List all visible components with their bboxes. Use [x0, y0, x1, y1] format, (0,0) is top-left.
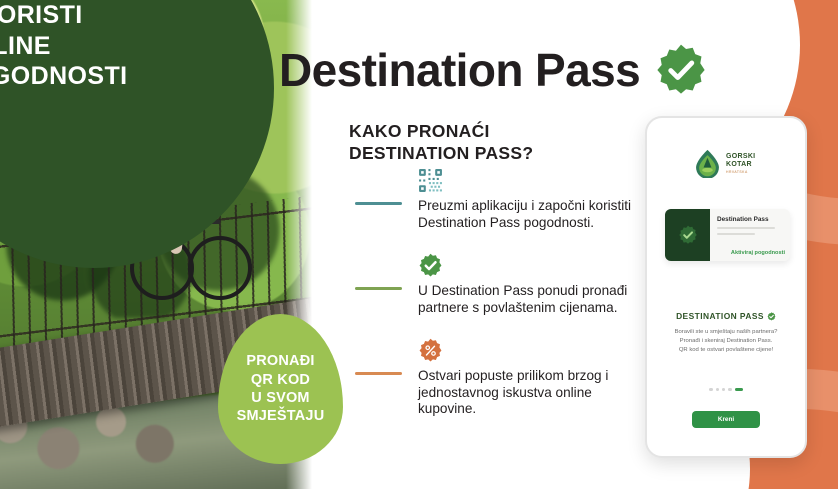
activate-benefits-link[interactable]: Aktiviraj pogodnosti [731, 250, 785, 256]
page-title-text: Destination Pass [279, 43, 640, 97]
brand-name-line-1: GORSKI [726, 153, 755, 161]
app-brand: GORSKI KOTAR HRVATSKA [694, 149, 755, 178]
phone-body-line-1: Boravili ste u smještaju naših partnera? [662, 328, 790, 337]
step-rule [355, 202, 402, 205]
section-subtitle-line-1: KAKO PRONAĆI [349, 120, 533, 142]
pass-card-thumbnail [665, 209, 710, 261]
pass-card-placeholder-line [717, 227, 775, 229]
kicker-line-2: ONLINE [0, 31, 184, 62]
step-item: Ostvari popuste prilikom brzog i jednost… [355, 338, 635, 418]
carousel-dots[interactable] [652, 388, 800, 391]
carousel-dot-active[interactable] [735, 388, 743, 391]
phone-screen: GORSKI KOTAR HRVATSKA Destination Pass [652, 123, 800, 451]
step-rule [355, 287, 402, 290]
pass-card-title: Destination Pass [717, 216, 784, 223]
phone-body-copy: Boravili ste u smještaju naših partnera?… [662, 328, 790, 355]
kicker-line-1: ISKORISTI [0, 0, 184, 31]
phone-body-line-2: Pronađi i skeniraj Destination Pass. [662, 337, 790, 346]
verified-check-badge-icon [767, 312, 776, 321]
step-text: Preuzmi aplikaciju i započni koristiti D… [418, 198, 635, 231]
carousel-dot[interactable] [716, 388, 719, 391]
qr-code-icon [418, 168, 443, 193]
carousel-dot[interactable] [728, 388, 731, 391]
brand-name-line-2: KOTAR [726, 161, 755, 169]
qr-hint-text: PRONAĐI QR KOD U SVOM SMJEŠTAJU [237, 352, 325, 426]
step-rule [355, 372, 402, 375]
brand-name: GORSKI KOTAR [726, 153, 755, 169]
phone-section-heading: DESTINATION PASS [652, 311, 800, 321]
step-item: U Destination Pass ponudi pronađi partne… [355, 253, 635, 316]
carousel-dot[interactable] [709, 388, 712, 391]
gorski-kotar-leaf-logo-icon [694, 149, 721, 178]
percent-badge-icon [418, 338, 443, 363]
verified-check-badge-icon [678, 225, 698, 245]
qr-hint-line-2: QR KOD [237, 371, 325, 389]
qr-hint-line-3: U SVOM [237, 389, 325, 407]
pass-card-placeholder-line [717, 233, 755, 235]
qr-hint-line-1: PRONAĐI [237, 352, 325, 370]
phone-cta-button[interactable]: Kreni [692, 411, 760, 428]
page-title: Destination Pass [279, 43, 708, 97]
kicker-headline: ISKORISTI ONLINE POGODNOSTI [0, 0, 184, 92]
promo-poster: ISKORISTI ONLINE POGODNOSTI PRONAĐI QR K… [0, 0, 838, 489]
section-subtitle: KAKO PRONAĆI DESTINATION PASS? [349, 120, 533, 165]
verified-check-badge-icon [418, 253, 443, 278]
carousel-dot[interactable] [722, 388, 725, 391]
kicker-line-3: POGODNOSTI [0, 61, 184, 92]
destination-pass-card[interactable]: Destination Pass Aktiviraj pogodnosti [665, 209, 790, 261]
verified-check-badge-icon [654, 43, 708, 97]
brand-tagline: HRVATSKA [726, 170, 755, 174]
phone-section-heading-text: DESTINATION PASS [676, 311, 764, 321]
steps-list: Preuzmi aplikaciju i započni koristiti D… [355, 168, 635, 440]
qr-hint-line-4: SMJEŠTAJU [237, 407, 325, 425]
phone-body-line-3: QR kod te ostvari povlaštene cijene! [662, 346, 790, 355]
phone-mockup: GORSKI KOTAR HRVATSKA Destination Pass [645, 116, 807, 458]
step-text: Ostvari popuste prilikom brzog i jednost… [418, 368, 635, 418]
section-subtitle-line-2: DESTINATION PASS? [349, 142, 533, 164]
dark-green-circle: ISKORISTI ONLINE POGODNOSTI [0, 0, 274, 268]
step-text: U Destination Pass ponudi pronađi partne… [418, 283, 635, 316]
step-item: Preuzmi aplikaciju i započni koristiti D… [355, 168, 635, 231]
